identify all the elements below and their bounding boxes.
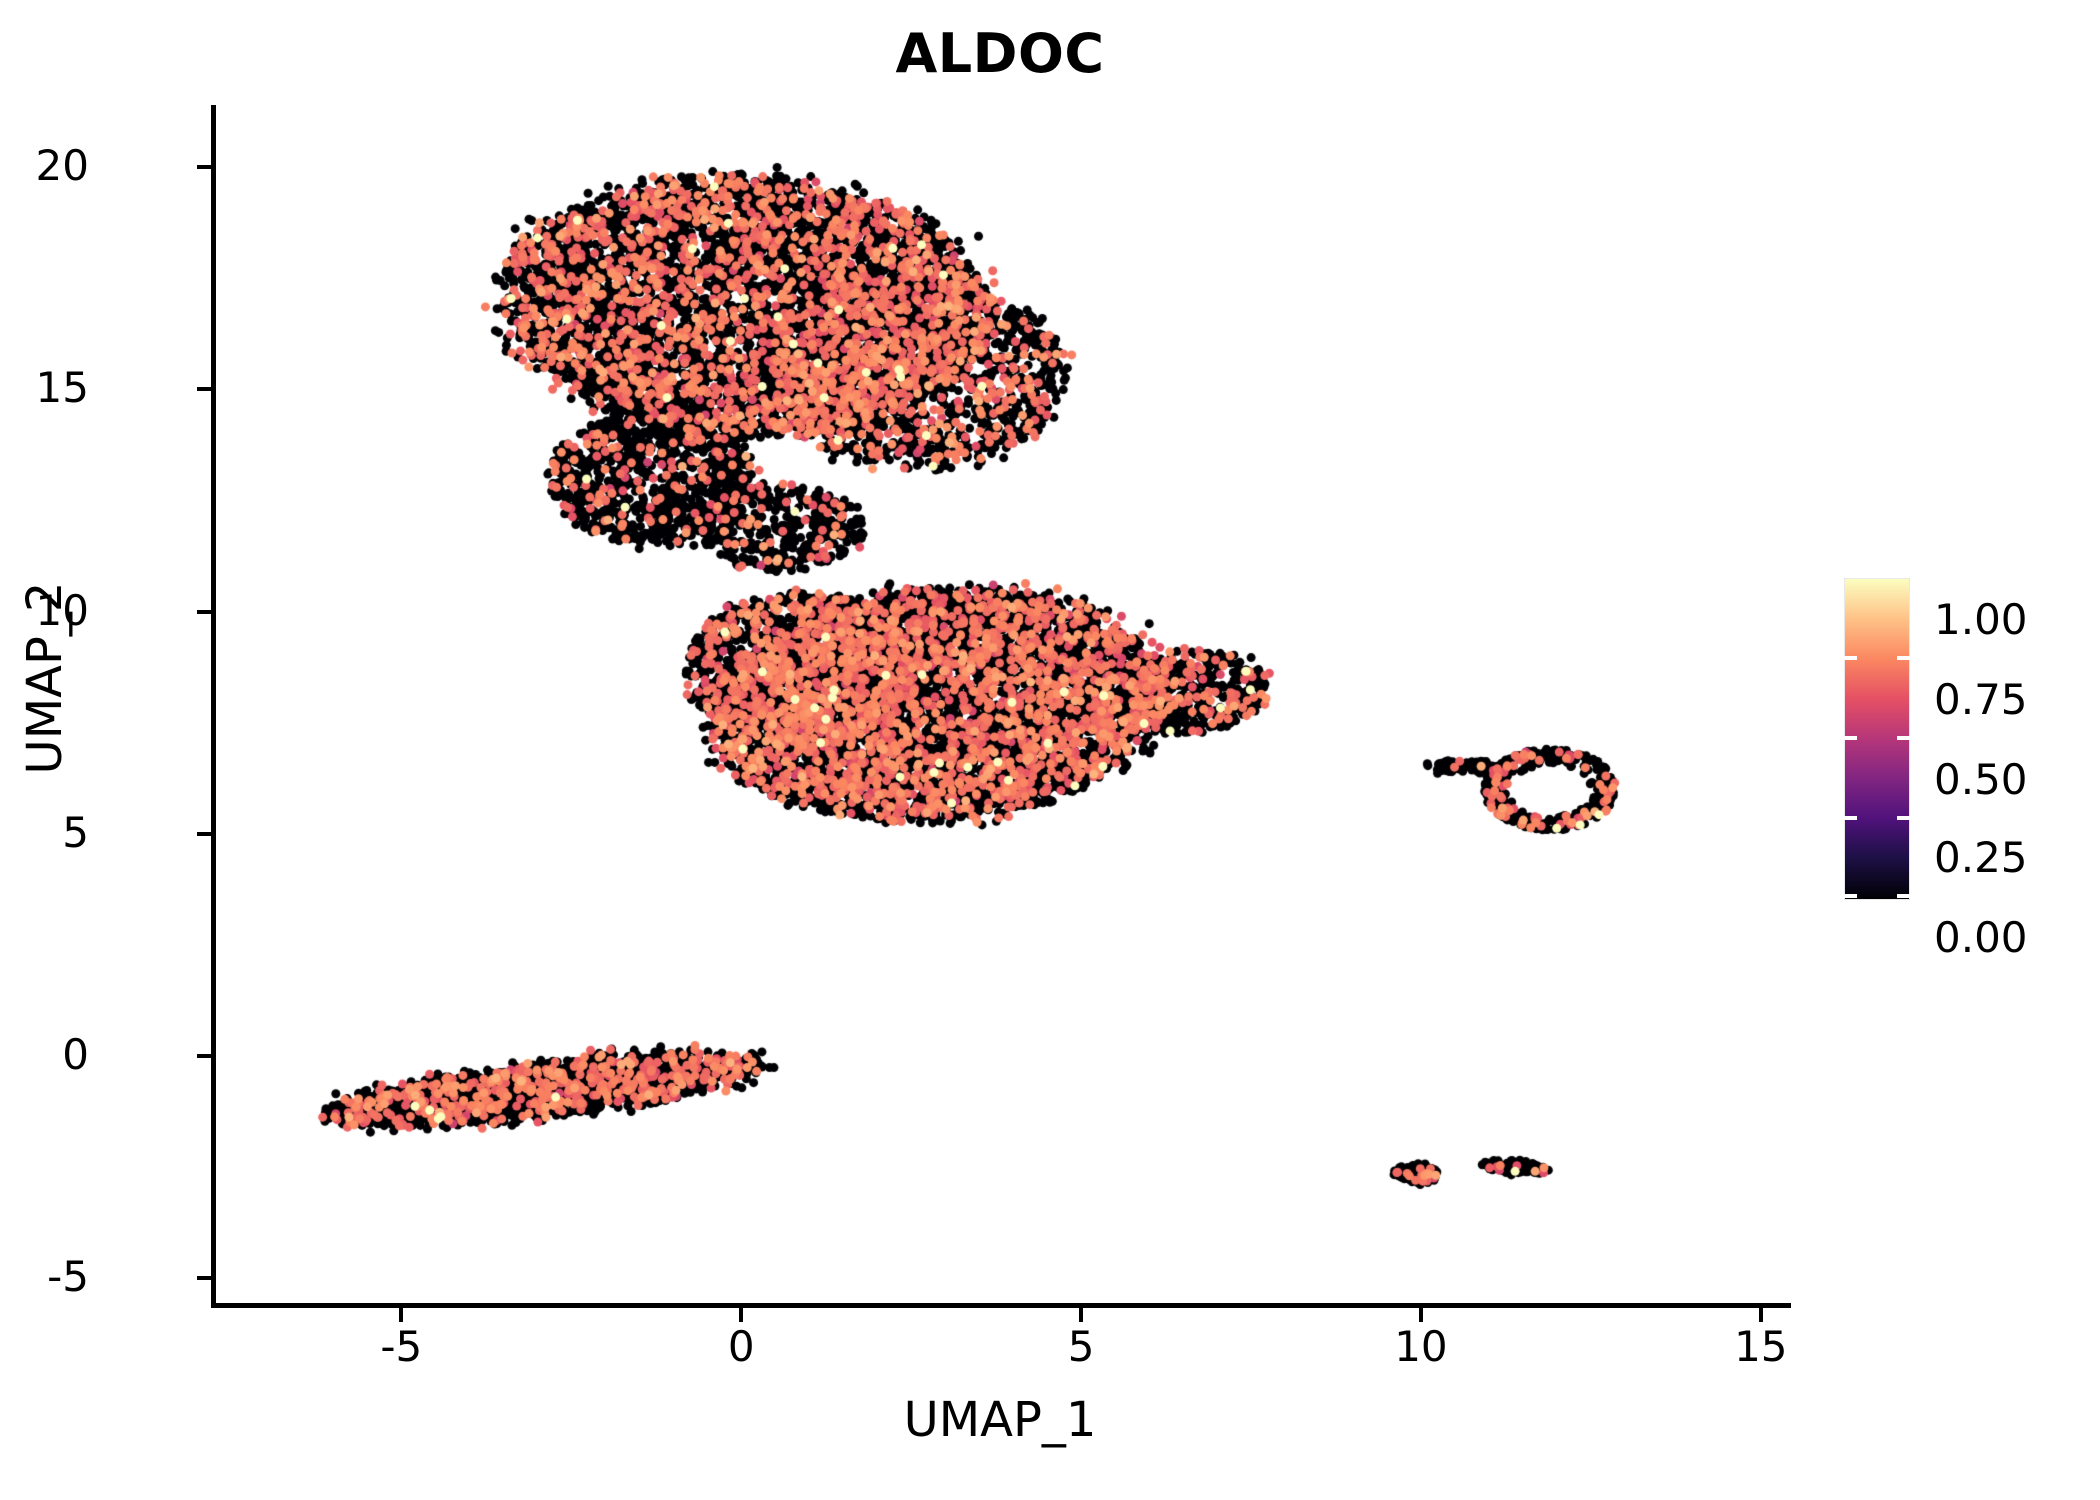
colorbar xyxy=(1844,578,1910,900)
x-tick-label: 15 xyxy=(1734,1326,1787,1368)
x-axis-label: UMAP_1 xyxy=(0,1392,2000,1448)
umap-scatter-points xyxy=(211,105,1788,1305)
y-tick-label: -5 xyxy=(47,1256,89,1298)
colorbar-label-4: 0.25 xyxy=(1934,837,2028,879)
colorbar-tick-075-left xyxy=(1844,656,1857,660)
x-tick-mark xyxy=(1419,1308,1423,1322)
y-tick-mark xyxy=(197,165,211,169)
colorbar-tick-025-left xyxy=(1844,816,1857,820)
x-tick-mark xyxy=(739,1308,743,1322)
y-tick-mark xyxy=(197,387,211,391)
y-axis-label: UMAP_2 xyxy=(17,328,73,1028)
x-tick-label: 10 xyxy=(1394,1326,1447,1368)
colorbar-tick-050-right xyxy=(1897,736,1910,740)
x-axis-spine xyxy=(211,1303,1791,1308)
scatter-plot-axes xyxy=(211,105,1788,1305)
colorbar-label-5: 0.00 xyxy=(1934,917,2028,959)
y-tick-mark xyxy=(197,1276,211,1280)
x-tick-mark xyxy=(1079,1308,1083,1322)
colorbar-label-3: 0.50 xyxy=(1934,759,2028,801)
colorbar-tick-000-right xyxy=(1897,894,1910,898)
y-tick-mark xyxy=(197,610,211,614)
figure-canvas: ALDOC -505101520 -5051015 UMAP_1 UMAP_2 … xyxy=(0,0,2100,1500)
colorbar-tick-000-left xyxy=(1844,894,1857,898)
colorbar-tick-025-right xyxy=(1897,816,1910,820)
x-tick-label: -5 xyxy=(380,1326,422,1368)
y-tick-mark xyxy=(197,832,211,836)
y-tick-label: 20 xyxy=(36,145,89,187)
x-tick-mark xyxy=(1759,1308,1763,1322)
colorbar-tick-050-left xyxy=(1844,736,1857,740)
y-tick-mark xyxy=(197,1054,211,1058)
x-tick-mark xyxy=(399,1308,403,1322)
colorbar-tick-075-right xyxy=(1897,656,1910,660)
page-title: ALDOC xyxy=(0,22,2100,85)
y-axis-spine xyxy=(211,105,216,1308)
x-tick-label: 5 xyxy=(1068,1326,1095,1368)
colorbar-label-1: 1.00 xyxy=(1934,599,2028,641)
x-tick-label: 0 xyxy=(728,1326,755,1368)
y-tick-label: 0 xyxy=(62,1034,89,1076)
colorbar-label-2: 0.75 xyxy=(1934,679,2028,721)
